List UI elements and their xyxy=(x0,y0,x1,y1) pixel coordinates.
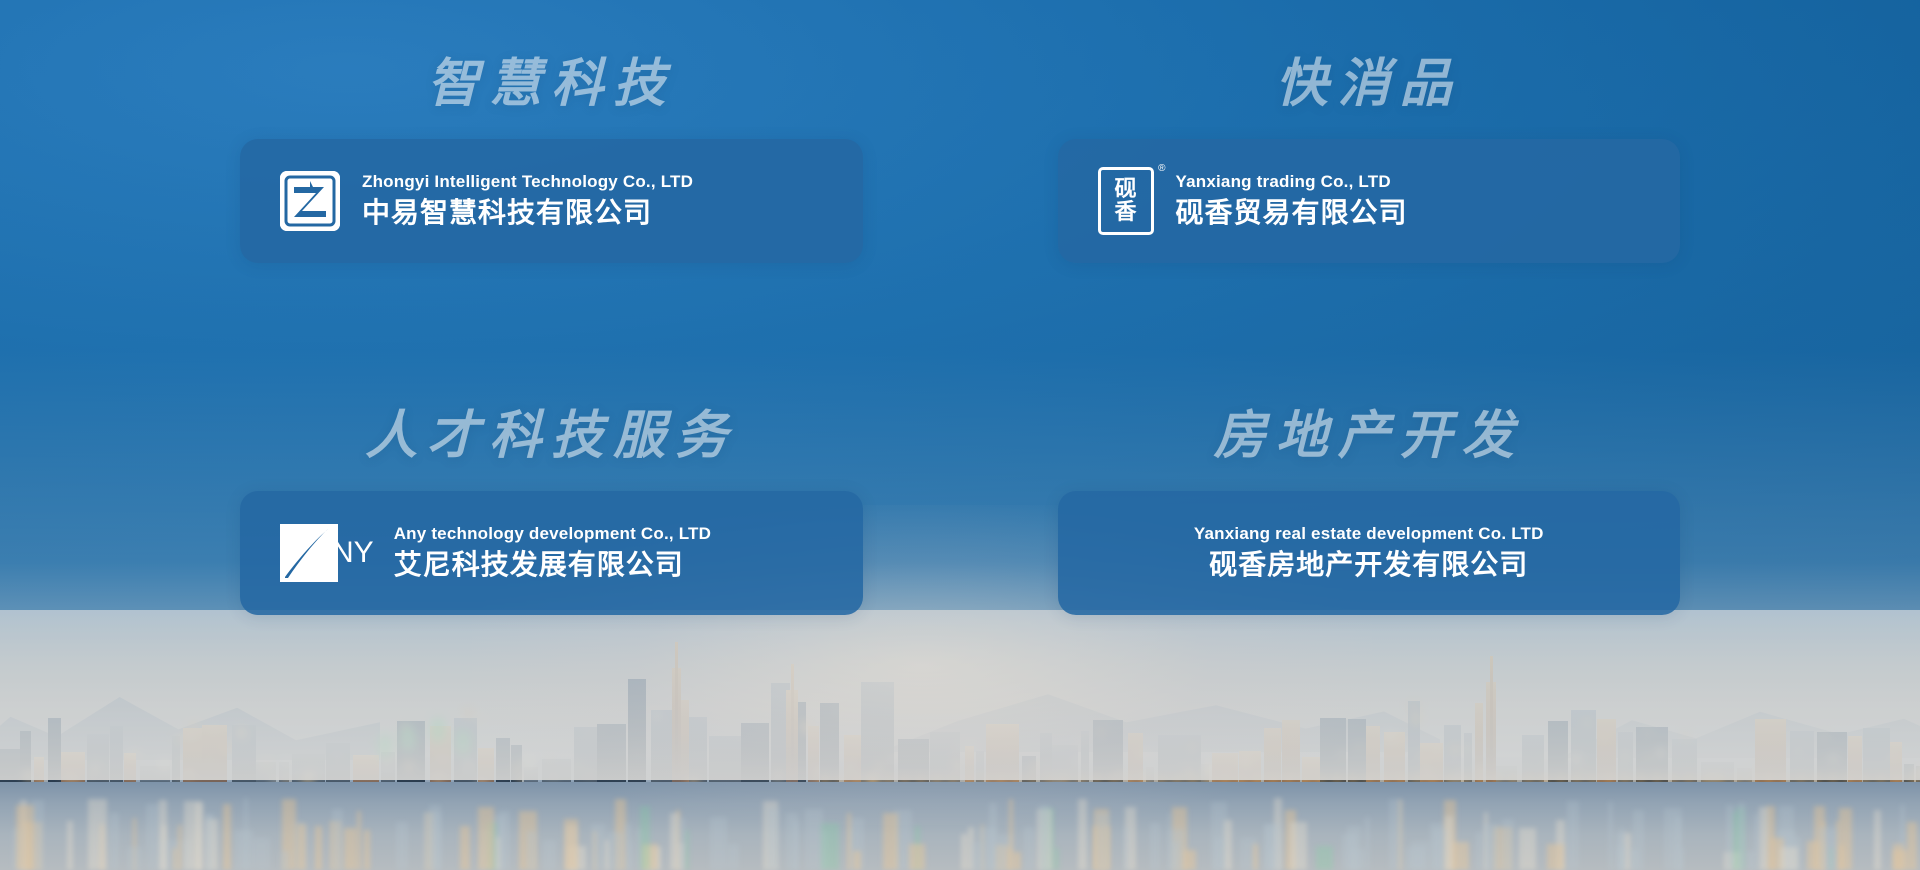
company-name-en: Zhongyi Intelligent Technology Co., LTD xyxy=(362,171,693,192)
company-names: Any technology development Co., LTD 艾尼科技… xyxy=(394,523,711,583)
sector-title: 房地产开发 xyxy=(1058,408,1681,465)
yanxiang-seal-logo: 砚 香 ® xyxy=(1098,167,1154,235)
company-name-cn: 艾尼科技发展有限公司 xyxy=(394,547,711,583)
company-name-en: Any technology development Co., LTD xyxy=(394,523,711,544)
company-name-en: Yanxiang real estate development Co. LTD xyxy=(1194,523,1544,544)
sector-title: 快消品 xyxy=(1058,56,1681,113)
company-names: Yanxiang trading Co., LTD 砚香贸易有限公司 xyxy=(1176,171,1408,231)
sector-cell-real-estate: 房地产开发 Yanxiang real estate development C… xyxy=(1058,408,1681,750)
any-logo-text: NY xyxy=(332,536,374,570)
zhongyi-logo xyxy=(280,171,340,231)
company-names: Yanxiang real estate development Co. LTD… xyxy=(1194,523,1544,583)
sector-cell-fmcg: 快消品 砚 香 ® Yanxiang trading Co., LTD 砚香贸易… xyxy=(1058,56,1681,398)
company-name-en: Yanxiang trading Co., LTD xyxy=(1176,171,1408,192)
company-name-cn: 中易智慧科技有限公司 xyxy=(362,195,693,231)
company-name-cn: 砚香房地产开发有限公司 xyxy=(1209,547,1528,583)
hero-banner: 智慧科技 Zhongyi Intelligent Technology Co.,… xyxy=(0,0,1920,870)
seal-char-top: 砚 xyxy=(1114,179,1136,201)
sector-cell-talent-tech-services: 人才科技服务 NY Any technolog xyxy=(240,408,863,750)
company-names: Zhongyi Intelligent Technology Co., LTD … xyxy=(362,171,693,231)
company-card[interactable]: 砚 香 ® Yanxiang trading Co., LTD 砚香贸易有限公司 xyxy=(1058,139,1681,263)
registered-mark-icon: ® xyxy=(1158,163,1165,174)
sector-cell-smart-technology: 智慧科技 Zhongyi Intelligent Technology Co.,… xyxy=(240,56,863,398)
sector-title: 人才科技服务 xyxy=(240,408,863,465)
company-card[interactable]: NY Any technology development Co., LTD 艾… xyxy=(240,491,863,615)
seal-char-bottom: 香 xyxy=(1114,202,1136,224)
company-card[interactable]: Zhongyi Intelligent Technology Co., LTD … xyxy=(240,139,863,263)
company-name-cn: 砚香贸易有限公司 xyxy=(1176,195,1408,231)
sector-grid: 智慧科技 Zhongyi Intelligent Technology Co.,… xyxy=(0,0,1920,870)
sector-title: 智慧科技 xyxy=(240,56,863,113)
company-card[interactable]: Yanxiang real estate development Co. LTD… xyxy=(1058,491,1681,615)
any-logo: NY xyxy=(280,523,374,583)
